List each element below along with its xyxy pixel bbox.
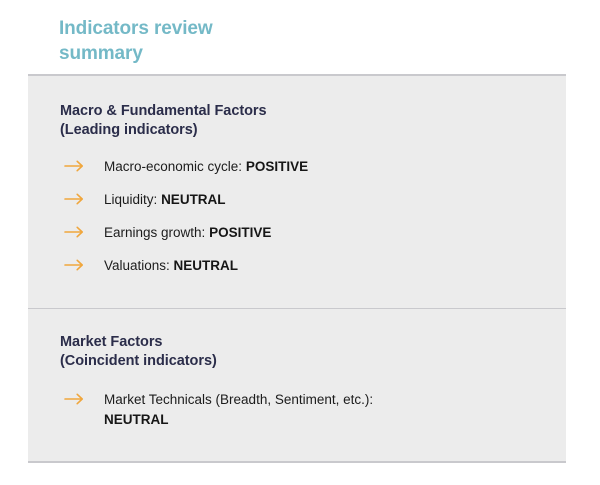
section-heading-macro-line-2: (Leading indicators) [60,121,566,140]
indicator-label: Market Technicals (Breadth, Sentiment, e… [104,392,373,407]
list-item-text: Market Technicals (Breadth, Sentiment, e… [104,390,566,430]
list-item-text: Earnings growth: POSITIVE [104,223,566,242]
list-item: Liquidity: NEUTRAL [60,190,566,223]
list-item: Valuations: NEUTRAL [60,256,566,289]
indicator-label: Valuations: [104,258,174,273]
indicator-value: NEUTRAL [174,258,239,273]
indicator-value: POSITIVE [246,159,308,174]
indicator-value: POSITIVE [209,225,271,240]
indicator-value: NEUTRAL [104,410,566,430]
list-item-text: Liquidity: NEUTRAL [104,190,566,209]
section-heading-market-line-2: (Coincident indicators) [60,352,566,371]
list-item-text: Valuations: NEUTRAL [104,256,566,275]
indicator-label: Earnings growth: [104,225,209,240]
list-item: Earnings growth: POSITIVE [60,223,566,256]
arrow-right-icon [64,192,86,206]
arrow-right-icon [64,258,86,272]
section-heading-macro: Macro & Fundamental Factors (Leading ind… [60,102,566,140]
list-item: Market Technicals (Breadth, Sentiment, e… [60,390,566,430]
page-title-line-2: summary [59,41,359,66]
section-market-factors: Market Factors (Coincident indicators) M… [28,308,566,430]
arrow-right-icon [64,159,86,173]
page-title: Indicators review summary [59,16,359,66]
section-heading-macro-line-1: Macro & Fundamental Factors [60,102,566,121]
market-indicator-list: Market Technicals (Breadth, Sentiment, e… [28,390,566,430]
indicator-label: Liquidity: [104,192,157,207]
section-macro-fundamental-factors: Macro & Fundamental Factors (Leading ind… [28,76,566,308]
arrow-right-icon [64,392,86,406]
macro-indicator-list: Macro-economic cycle: POSITIVE Liquidity… [28,157,566,289]
indicator-label: Macro-economic cycle: [104,159,242,174]
page-title-line-1: Indicators review [59,16,359,41]
section-heading-market: Market Factors (Coincident indicators) [60,333,566,371]
arrow-right-icon [64,225,86,239]
section-heading-market-line-1: Market Factors [60,333,566,352]
indicator-value: NEUTRAL [161,192,226,207]
list-item-text: Macro-economic cycle: POSITIVE [104,157,566,176]
indicators-panel: Macro & Fundamental Factors (Leading ind… [28,74,566,463]
slide-canvas: Indicators review summary Macro & Fundam… [0,0,600,485]
list-item: Macro-economic cycle: POSITIVE [60,157,566,190]
